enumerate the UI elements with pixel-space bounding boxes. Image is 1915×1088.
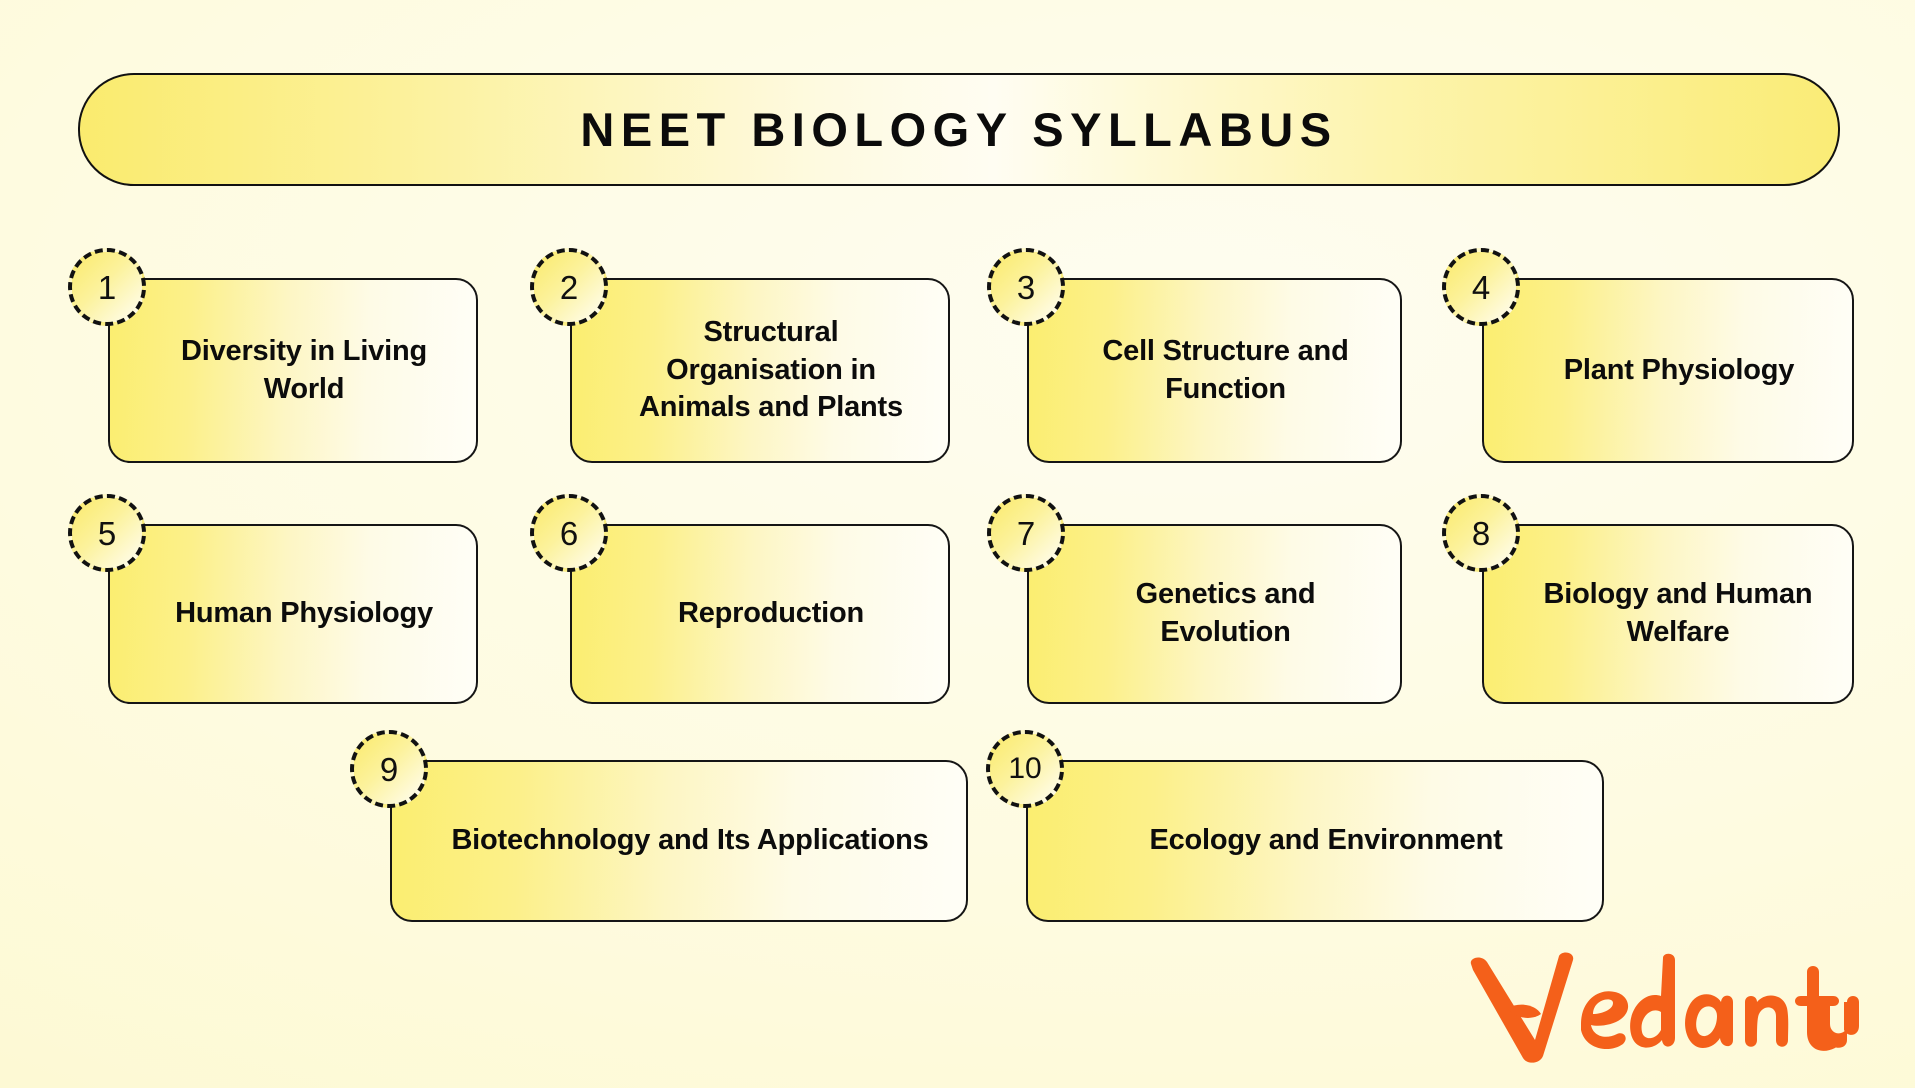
syllabus-card-8[interactable]: Biology and Human Welfare bbox=[1482, 524, 1854, 704]
syllabus-item-4[interactable]: Plant Physiology 4 bbox=[1442, 248, 1862, 463]
syllabus-item-3[interactable]: Cell Structure and Function 3 bbox=[987, 248, 1407, 463]
syllabus-item-8[interactable]: Biology and Human Welfare 8 bbox=[1442, 494, 1862, 709]
syllabus-card-label: Biology and Human Welfare bbox=[1514, 576, 1842, 651]
syllabus-card-10[interactable]: Ecology and Environment bbox=[1026, 760, 1604, 922]
page-title: NEET BIOLOGY SYLLABUS bbox=[580, 102, 1337, 157]
syllabus-card-7[interactable]: Genetics and Evolution bbox=[1027, 524, 1402, 704]
number-badge-4: 4 bbox=[1442, 248, 1520, 326]
syllabus-item-6[interactable]: Reproduction 6 bbox=[530, 494, 950, 709]
syllabus-card-4[interactable]: Plant Physiology bbox=[1482, 278, 1854, 463]
syllabus-card-label: Biotechnology and Its Applications bbox=[451, 822, 928, 860]
number-badge-6: 6 bbox=[530, 494, 608, 572]
syllabus-item-5[interactable]: Human Physiology 5 bbox=[68, 494, 488, 709]
syllabus-card-1[interactable]: Diversity in Living World bbox=[108, 278, 478, 463]
syllabus-card-label: Diversity in Living World bbox=[154, 333, 454, 408]
syllabus-item-7[interactable]: Genetics and Evolution 7 bbox=[987, 494, 1407, 709]
vedantu-wordmark-icon bbox=[1463, 952, 1863, 1070]
number-badge-5: 5 bbox=[68, 494, 146, 572]
badge-number: 2 bbox=[560, 271, 578, 304]
syllabus-card-label: Plant Physiology bbox=[1564, 352, 1794, 390]
syllabus-card-label: Ecology and Environment bbox=[1149, 822, 1502, 860]
syllabus-card-label: Cell Structure and Function bbox=[1073, 333, 1378, 408]
syllabus-card-9[interactable]: Biotechnology and Its Applications bbox=[390, 760, 968, 922]
syllabus-card-label: Genetics and Evolution bbox=[1073, 576, 1378, 651]
badge-number: 4 bbox=[1472, 271, 1490, 304]
badge-number: 1 bbox=[98, 271, 116, 304]
syllabus-item-2[interactable]: Structural Organisation in Animals and P… bbox=[530, 248, 950, 463]
badge-number: 10 bbox=[1008, 754, 1041, 784]
syllabus-card-2[interactable]: Structural Organisation in Animals and P… bbox=[570, 278, 950, 463]
syllabus-card-6[interactable]: Reproduction bbox=[570, 524, 950, 704]
syllabus-card-label: Reproduction bbox=[678, 595, 864, 633]
syllabus-item-10[interactable]: Ecology and Environment 10 bbox=[986, 730, 1406, 945]
vedantu-logo bbox=[1463, 952, 1863, 1070]
syllabus-card-3[interactable]: Cell Structure and Function bbox=[1027, 278, 1402, 463]
syllabus-card-5[interactable]: Human Physiology bbox=[108, 524, 478, 704]
badge-number: 5 bbox=[98, 517, 116, 550]
syllabus-card-label: Structural Organisation in Animals and P… bbox=[616, 314, 926, 427]
number-badge-1: 1 bbox=[68, 248, 146, 326]
badge-number: 9 bbox=[380, 753, 398, 786]
number-badge-9: 9 bbox=[350, 730, 428, 808]
badge-number: 7 bbox=[1017, 517, 1035, 550]
badge-number: 6 bbox=[560, 517, 578, 550]
title-banner: NEET BIOLOGY SYLLABUS bbox=[78, 73, 1840, 186]
number-badge-10: 10 bbox=[986, 730, 1064, 808]
number-badge-2: 2 bbox=[530, 248, 608, 326]
badge-number: 3 bbox=[1017, 271, 1035, 304]
syllabus-item-9[interactable]: Biotechnology and Its Applications 9 bbox=[350, 730, 770, 945]
syllabus-card-label: Human Physiology bbox=[175, 595, 433, 633]
badge-number: 8 bbox=[1472, 517, 1490, 550]
number-badge-8: 8 bbox=[1442, 494, 1520, 572]
syllabus-item-1[interactable]: Diversity in Living World 1 bbox=[68, 248, 488, 463]
number-badge-7: 7 bbox=[987, 494, 1065, 572]
number-badge-3: 3 bbox=[987, 248, 1065, 326]
